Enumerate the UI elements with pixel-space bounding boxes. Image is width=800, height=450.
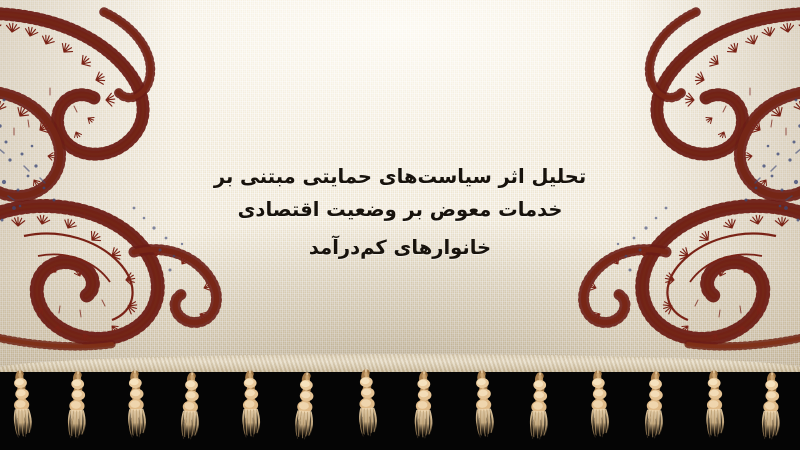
title-line-2: خدمات معوض بر وضعیت اقتصادی [0, 193, 800, 226]
title-line-3: خانوارهای کم‌درآمد [0, 231, 800, 264]
slide-title: تحلیل اثر سیاست‌های حمایتی مبتنی بر خدما… [0, 160, 800, 264]
slide-canvas: تحلیل اثر سیاست‌های حمایتی مبتنی بر خدما… [0, 0, 800, 450]
title-line-1: تحلیل اثر سیاست‌های حمایتی مبتنی بر [0, 160, 800, 193]
tassel-fringe [0, 360, 800, 450]
